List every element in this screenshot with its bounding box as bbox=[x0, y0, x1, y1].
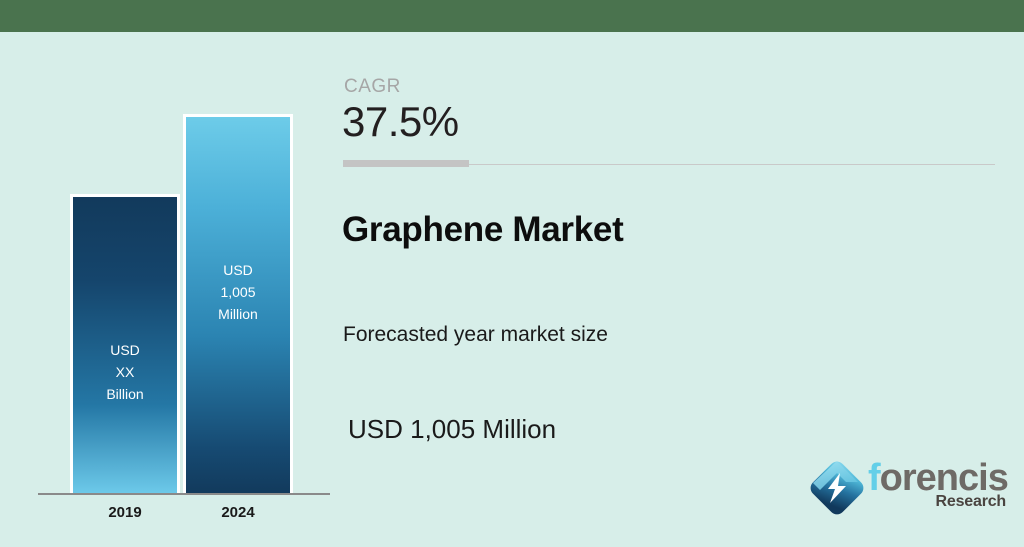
bar-2024-label: USD 1,005 Million bbox=[186, 259, 290, 325]
forecast-market-value: USD 1,005 Million bbox=[348, 414, 556, 445]
section-divider bbox=[343, 160, 995, 168]
cagr-label: CAGR bbox=[344, 76, 401, 98]
bar-2024-amount: 1,005 bbox=[186, 281, 290, 303]
x-axis-tick-labels: 2019 2024 bbox=[0, 504, 340, 534]
bar-2019-unit: Billion bbox=[73, 383, 177, 405]
bar-2019-label: USD XX Billion bbox=[73, 339, 177, 405]
bar-2024: USD 1,005 Million bbox=[183, 114, 293, 494]
x-tick-2019: 2019 bbox=[70, 504, 180, 521]
cagr-value: 37.5% bbox=[342, 98, 459, 146]
logo-f-accent: f bbox=[868, 457, 880, 499]
infographic-root: USD XX Billion USD 1,005 Million 2019 20… bbox=[0, 0, 1024, 547]
x-axis-line bbox=[38, 493, 330, 495]
bar-2019-currency: USD bbox=[73, 339, 177, 361]
top-green-band bbox=[0, 0, 1024, 32]
logo-wordmark: forencis Research bbox=[868, 455, 1008, 521]
bar-2024-currency: USD bbox=[186, 259, 290, 281]
bar-chart: USD XX Billion USD 1,005 Million 2019 20… bbox=[0, 32, 340, 547]
bar-2019-amount: XX bbox=[73, 361, 177, 383]
logo-diamond-icon bbox=[806, 457, 868, 519]
bar-2019: USD XX Billion bbox=[70, 194, 180, 494]
page-title: Graphene Market bbox=[342, 210, 623, 250]
bar-2024-unit: Million bbox=[186, 303, 290, 325]
divider-thick-segment bbox=[343, 160, 469, 167]
x-tick-2024: 2024 bbox=[183, 504, 293, 521]
bars-container: USD XX Billion USD 1,005 Million bbox=[0, 32, 340, 494]
forencis-research-logo: forencis Research bbox=[806, 455, 1006, 527]
forecast-subtitle: Forecasted year market size bbox=[343, 323, 608, 347]
logo-word-research: Research bbox=[936, 493, 1006, 511]
